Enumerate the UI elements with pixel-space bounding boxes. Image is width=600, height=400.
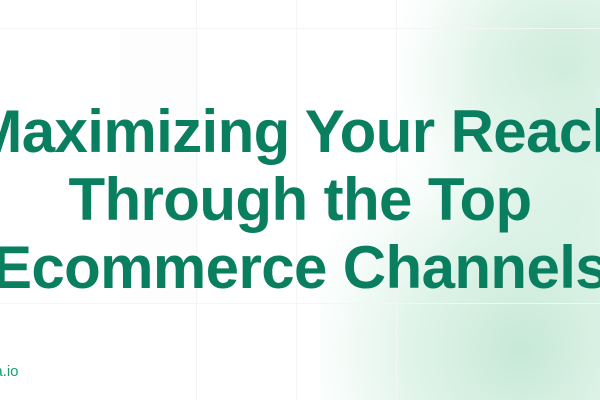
grid-hline-2 [0, 28, 600, 29]
headline-line-3: Ecommerce Channels [0, 234, 600, 302]
social-card-canvas: Maximizing Your Reach Through the Top Ec… [0, 0, 600, 400]
page-title: Maximizing Your Reach Through the Top Ec… [0, 98, 600, 302]
headline-line-1: Maximizing Your Reach [0, 98, 600, 166]
headline-line-2: Through the Top [0, 166, 600, 234]
watermark-domain: ga.io [0, 363, 19, 380]
grid-hline-1 [0, 303, 600, 304]
